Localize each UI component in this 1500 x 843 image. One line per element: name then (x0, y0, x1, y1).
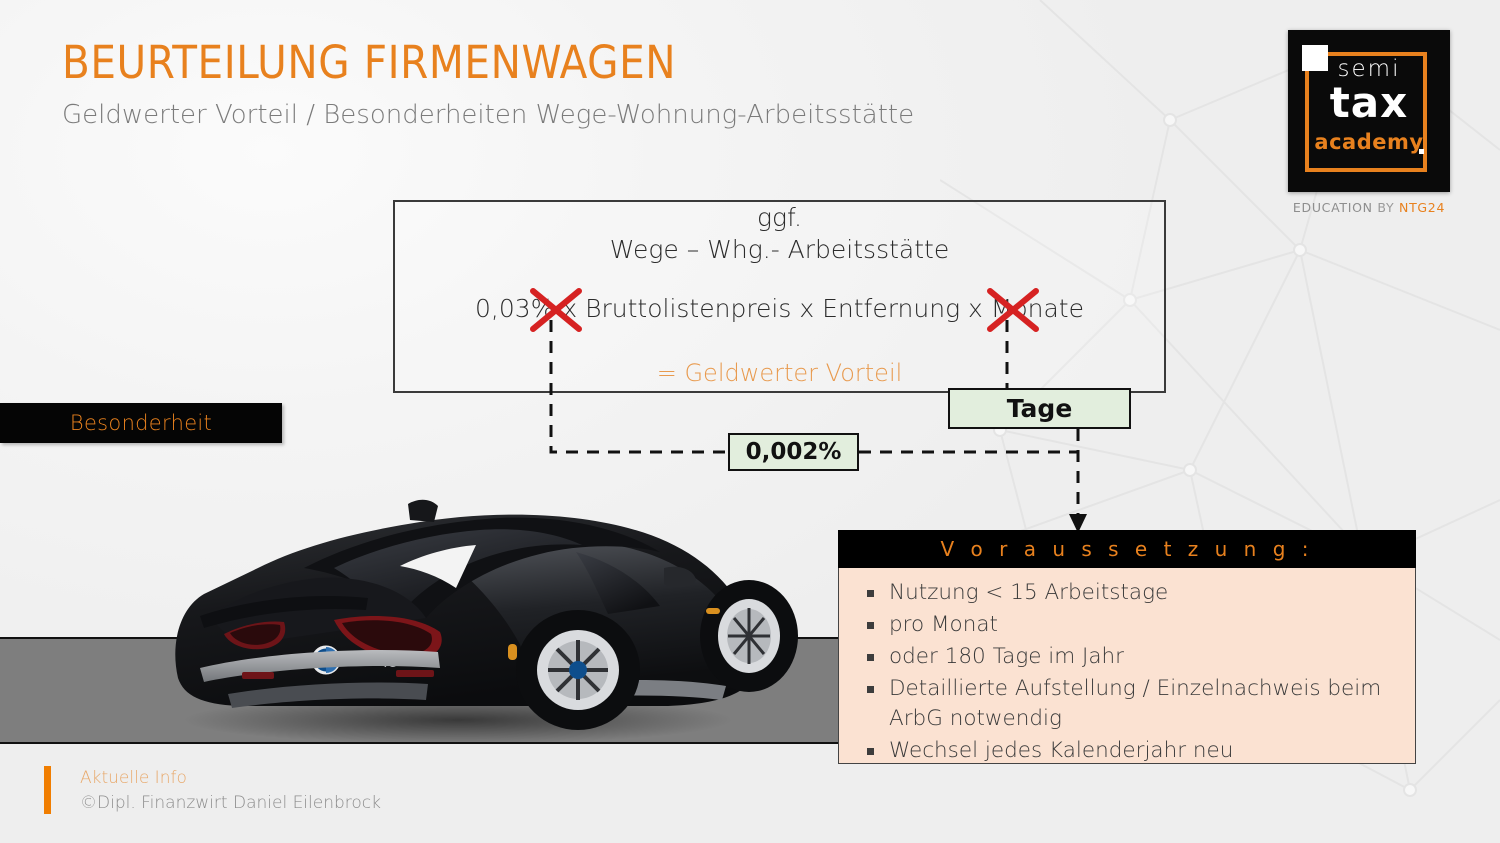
list-item: Detaillierte Aufstellung / Einzelnachwei… (853, 674, 1401, 734)
page-subtitle: Geldwerter Vorteil / Besonderheiten Wege… (62, 100, 914, 130)
logo-caption: EDUCATION BY NTG24 (1288, 200, 1450, 215)
slide-canvas: BEURTEILUNG FIRMENWAGEN Geldwerter Vorte… (0, 0, 1500, 843)
formula-line-ggf: ggf. (393, 203, 1166, 232)
voraussetzung-heading: V o r a u s s e t z u n g : (838, 530, 1416, 568)
logo-dot-icon (1419, 149, 1424, 154)
sports-car-icon: i8 (108, 448, 808, 748)
list-item: pro Monat (853, 610, 1401, 640)
logo-caption-by: BY (1377, 200, 1394, 215)
logo-text-academy: academy (1288, 130, 1450, 154)
voraussetzung-list: Nutzung < 15 Arbeitstage pro Monat oder … (853, 578, 1401, 766)
semitax-academy-logo: semi tax academy (1288, 30, 1450, 192)
logo-text-tax: tax (1288, 80, 1450, 126)
besonderheit-label: Besonderheit (0, 403, 282, 443)
logo-caption-brand: NTG24 (1399, 200, 1445, 215)
list-item: Wechsel jedes Kalenderjahr neu (853, 736, 1401, 766)
callout-tage[interactable]: Tage (948, 388, 1131, 429)
page-title: BEURTEILUNG FIRMENWAGEN (62, 36, 676, 89)
besonderheit-banner: Besonderheit (0, 403, 282, 443)
footer-accent-bar (44, 766, 51, 814)
logo-caption-education: EDUCATION (1293, 200, 1373, 215)
formula-line-result: = Geldwerter Vorteil (393, 359, 1166, 387)
callout-percent[interactable]: 0,002% (728, 433, 859, 471)
footer-copyright: ©Dipl. Finanzwirt Daniel Eilenbrock (80, 793, 381, 813)
voraussetzung-body: Nutzung < 15 Arbeitstage pro Monat oder … (838, 568, 1416, 764)
formula-line-wege: Wege – Whg.- Arbeitsstätte (393, 235, 1166, 264)
list-item: Nutzung < 15 Arbeitstage (853, 578, 1401, 608)
formula-line-calculation: 0,03% x Bruttolistenpreis x Entfernung x… (393, 294, 1166, 323)
list-item: oder 180 Tage im Jahr (853, 642, 1401, 672)
voraussetzung-header: V o r a u s s e t z u n g : (838, 530, 1416, 568)
footer-aktuelle-info: Aktuelle Info (80, 768, 187, 788)
